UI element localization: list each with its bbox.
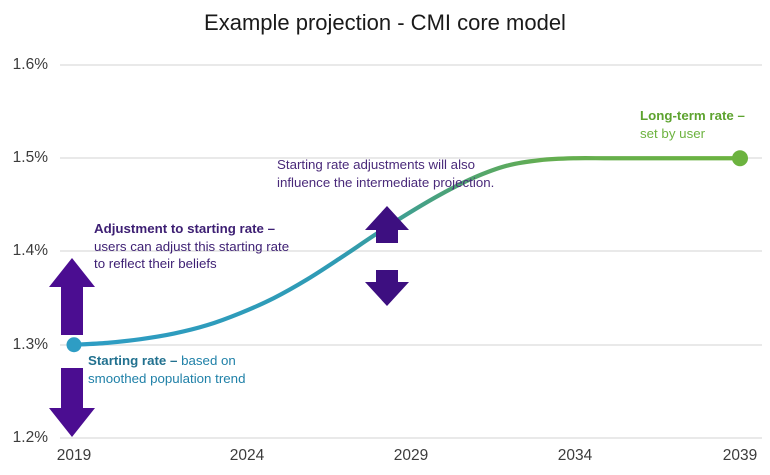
annotation-intermediate-line2: influence the intermediate projection. <box>277 175 494 190</box>
long-term-rate-point[interactable] <box>732 150 748 166</box>
annotation-starting-rest: based on <box>177 353 235 368</box>
annotation-adjustment-line3: to reflect their beliefs <box>94 256 217 271</box>
annotation-adjustment-to-starting-rate: Adjustment to starting rate –users can a… <box>94 220 324 273</box>
starting-rate-point[interactable] <box>67 337 82 352</box>
annotation-intermediate-line1: Starting rate adjustments will also <box>277 157 475 172</box>
starting-rate-increase-arrow[interactable] <box>49 258 95 335</box>
annotation-starting-bold: Starting rate – <box>88 353 177 368</box>
annotation-starting-line2: smoothed population trend <box>88 371 245 386</box>
intermediate-decrease-arrow[interactable] <box>365 270 409 306</box>
chart-container: Example projection - CMI core model 1.6%… <box>0 0 770 475</box>
annotation-starting-rate: Starting rate – based onsmoothed populat… <box>88 352 308 387</box>
annotation-long-term-rate: Long-term rate –set by user <box>640 107 770 142</box>
annotation-longterm-bold: Long-term rate – <box>640 108 745 123</box>
annotation-adjustment-bold: Adjustment to starting rate – <box>94 221 275 236</box>
annotation-longterm-line2: set by user <box>640 126 705 141</box>
annotation-intermediate-projection: Starting rate adjustments will alsoinflu… <box>277 156 527 191</box>
annotation-adjustment-line2: users can adjust this starting rate <box>94 239 289 254</box>
